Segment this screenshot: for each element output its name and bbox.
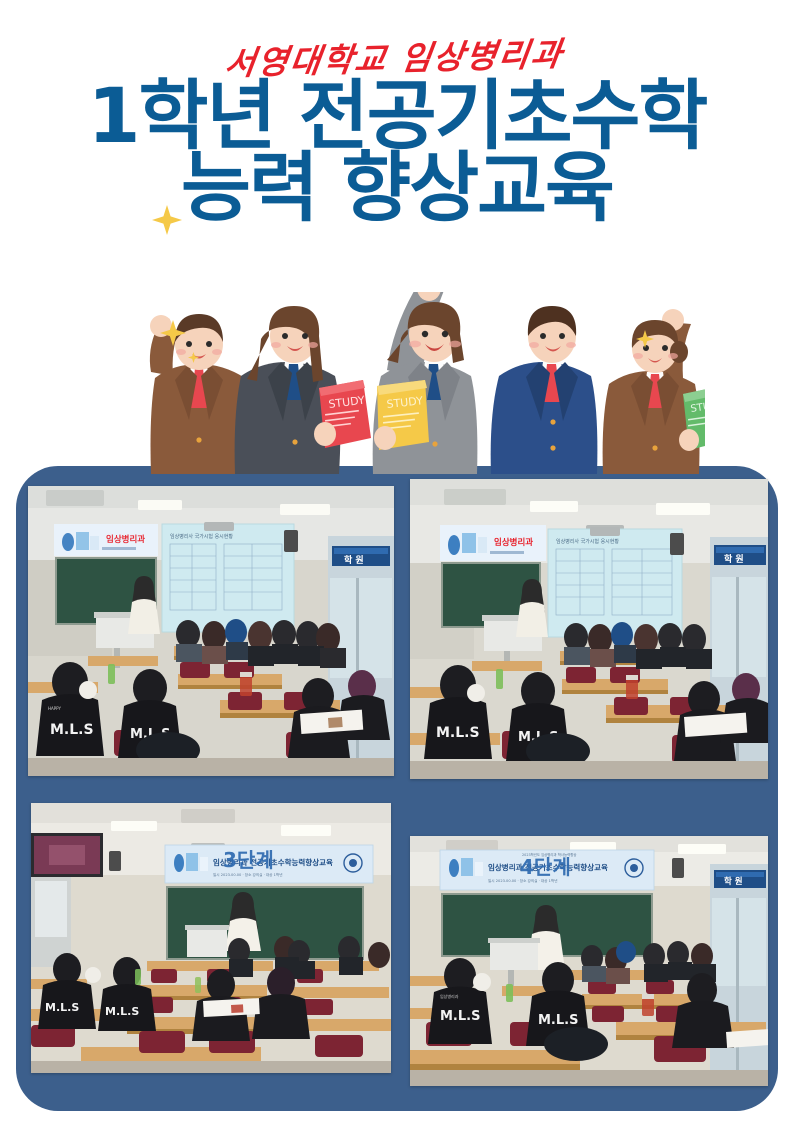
page-title: 1학년 전공기초수학 능력 향상교육 [0, 81, 794, 223]
event-banner-3: 임상병리과 전공기초수학능력향상교육 일시 2023.00.00 · 장소 강의… [165, 845, 373, 883]
svg-text:M.L.S: M.L.S [45, 1001, 79, 1014]
svg-text:학 원: 학 원 [344, 554, 364, 566]
svg-text:학 원: 학 원 [724, 553, 744, 565]
poster-header: 서영대학교 임상병리과 1학년 전공기초수학 능력 향상교육 [0, 0, 794, 300]
svg-text:임상병리과: 임상병리과 [106, 534, 145, 545]
student-2: STUDY [235, 306, 371, 474]
classroom-photo-2[interactable]: 강의실 전경 - 수강생 뒷모습과 프레젠테이션 화면 임상병리과 [410, 479, 768, 779]
photo-grid: 강의실 전경 - 강사가 스크린 앞에서 설명 [16, 466, 778, 1111]
title-line-1: 1학년 전공기초수학 [0, 81, 794, 151]
stage-label-3: 3단계 [223, 848, 274, 872]
student-3: STUDY [373, 292, 478, 474]
student-5: STUDY [603, 309, 705, 474]
svg-text:HAPPY: HAPPY [48, 706, 61, 711]
svg-text:임상병리사 국가시험 응시현황: 임상병리사 국가시험 응시현황 [556, 538, 619, 545]
photo-panel: 강의실 전경 - 강사가 스크린 앞에서 설명 [16, 466, 778, 1111]
svg-text:임상병리사 국가시험 응시현황: 임상병리사 국가시험 응시현황 [170, 533, 233, 540]
cheering-students-illustration: STUDY [95, 292, 705, 474]
stage-label-4: 4단계 [520, 855, 571, 879]
svg-text:M.L.S: M.L.S [538, 1013, 578, 1028]
svg-text:임상병리과: 임상병리과 [440, 993, 459, 999]
classroom-photo-4[interactable]: 4단계 교육 - 칠판 앞 강사와 수강생 2023학년도 임상병리과 학사능력… [410, 836, 768, 1086]
student-4 [491, 306, 598, 474]
svg-text:일시 2023.00.00 · 장소 강의실 · 대상 1학: 일시 2023.00.00 · 장소 강의실 · 대상 1학년 [213, 872, 283, 877]
svg-text:M.L.S: M.L.S [50, 722, 94, 738]
student-1 [150, 314, 249, 474]
classroom-photo-3[interactable]: 3단계 교육 - 칠판 앞 강사와 수강생 [31, 803, 391, 1073]
event-banner-4: 2023학년도 임상병리과 학사능력향상 임상병리과 전공기초수학능력향상교육 … [440, 850, 654, 890]
svg-text:M.L.S: M.L.S [440, 1009, 480, 1024]
svg-text:M.L.S: M.L.S [105, 1005, 139, 1018]
svg-text:학 원: 학 원 [724, 876, 743, 887]
title-line-2: 능력 향상교육 [0, 153, 794, 223]
svg-text:M.L.S: M.L.S [436, 725, 480, 741]
classroom-photo-1[interactable]: 강의실 전경 - 강사가 스크린 앞에서 설명 [28, 486, 394, 776]
svg-text:임상병리과: 임상병리과 [494, 537, 533, 548]
